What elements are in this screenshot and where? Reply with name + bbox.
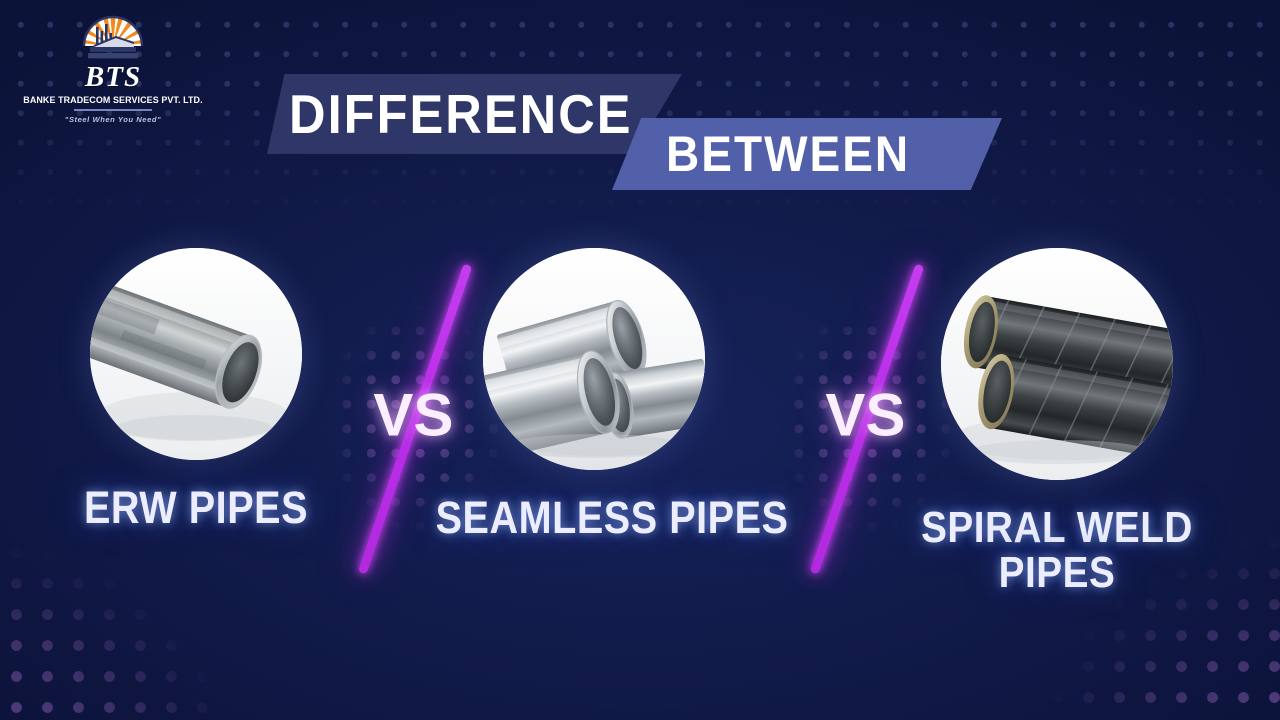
title-text-between: BETWEEN [666,125,910,183]
title-text-difference: DIFFERENCE [289,82,633,146]
comparison-item-seamless[interactable]: SEAMLESS PIPES [414,248,774,540]
title-banner-between: BETWEEN [612,118,1002,190]
spiral-weld-pipe-photo [941,248,1173,480]
erw-pipe-photo [90,248,302,460]
infographic-canvas: BTS BANKE TRADECOM SERVICES PVT. LTD. "S… [0,0,1280,720]
comparison-label-erw: ERW PIPES [55,486,337,530]
comparison-row: ERW PIPES VS [0,248,1280,668]
comparison-label-spiral-weld: SPIRAL WELD PIPES [894,506,1220,596]
seamless-pipe-photo [483,248,705,470]
comparison-item-spiral-weld[interactable]: SPIRAL WELD PIPES [872,248,1242,596]
page-title: DIFFERENCE BETWEEN [0,0,1280,200]
comparison-item-erw[interactable]: ERW PIPES [36,248,356,530]
title-banner-difference: DIFFERENCE [267,74,682,154]
comparison-label-seamless: SEAMLESS PIPES [436,496,753,540]
